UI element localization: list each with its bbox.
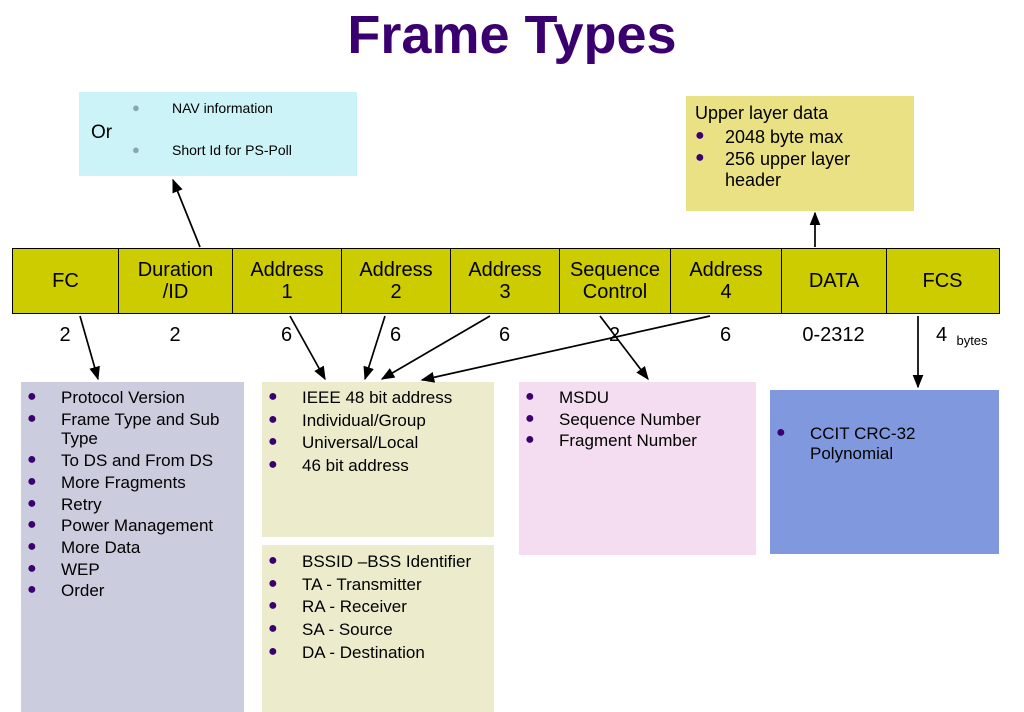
arrow-fc-to-detail	[80, 316, 98, 379]
arrow-sequence-to-detail	[600, 316, 648, 379]
arrow-address2-to-detail	[365, 316, 385, 379]
connector-arrows	[0, 0, 1024, 712]
slide-canvas: Frame Types Or ● NAV information ● Short…	[0, 0, 1024, 712]
arrow-address4-to-detail	[422, 316, 710, 380]
arrow-address3-to-detail	[382, 316, 490, 379]
arrow-address1-to-detail	[290, 316, 325, 379]
arrow-duration-to-nav	[173, 180, 200, 247]
